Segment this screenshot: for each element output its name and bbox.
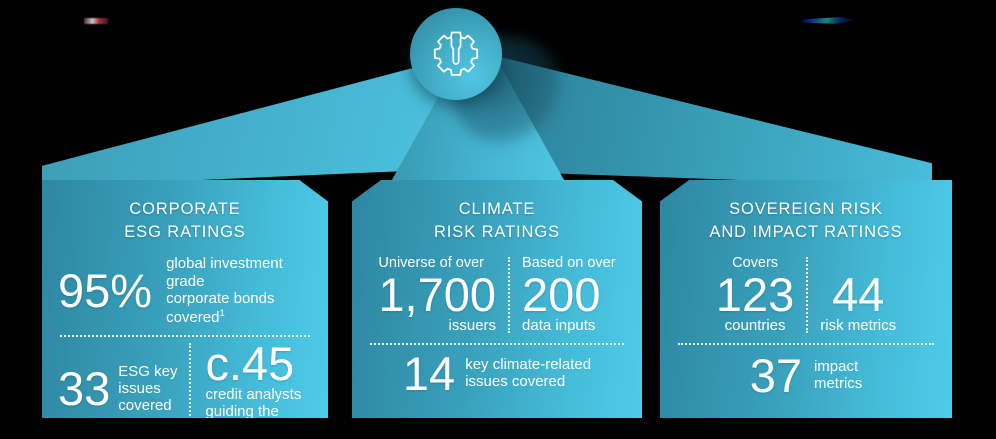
- panel-title-sovereign: SOVEREIGN RISK AND IMPACT RATINGS: [676, 198, 936, 245]
- stat-row-37: 37 impact metrics: [676, 349, 936, 398]
- stat-caption-line-2: metrics: [814, 375, 862, 392]
- panel-title-corporate: CORPORATE ESG RATINGS: [58, 198, 312, 245]
- stat-caption-line-2: issues: [118, 380, 177, 397]
- stat-value-33: 33: [58, 366, 110, 411]
- connector-left-corporate: [42, 55, 462, 187]
- stat-caption-line-1: key climate-related: [465, 356, 591, 373]
- stat-value-200: 200: [522, 272, 600, 317]
- stat-caption-line-1: global investment grade: [166, 255, 312, 290]
- stat-trail-1700: issuers: [449, 317, 497, 335]
- stat-row-33-and-45: 33 ESG key issues covered c.45 credit an…: [58, 341, 312, 437]
- stat-caption-line-2: guiding the model: [205, 403, 312, 437]
- stat-caption-14: key climate-related issues covered: [465, 356, 591, 390]
- panel-title-line-2: ESG RATINGS: [58, 221, 312, 244]
- panel-corporate-esg-ratings: CORPORATE ESG RATINGS 95% global investm…: [42, 180, 328, 418]
- stat-group-1700: Universe of over 1,700 issuers: [378, 255, 496, 335]
- stat-row-95-percent: 95% global investment grade corporate bo…: [58, 245, 312, 327]
- panel-climate-risk-ratings: CLIMATE RISK RATINGS Universe of over 1,…: [352, 180, 642, 418]
- stat-trail-200: data inputs: [522, 317, 595, 335]
- stat-value-95-percent: 95%: [58, 268, 152, 313]
- stat-trail-44: risk metrics: [820, 317, 896, 335]
- stat-caption-33: ESG key issues covered: [118, 363, 177, 414]
- stat-value-14: 14: [403, 351, 455, 396]
- divider-vertical-sovereign: [806, 257, 808, 333]
- divider-vertical-climate: [508, 257, 510, 333]
- top-left-image-artifact: [84, 18, 108, 24]
- panel-title-line-1: CORPORATE: [58, 198, 312, 221]
- divider-horizontal-sovereign: [678, 343, 934, 345]
- stat-value-37: 37: [750, 353, 802, 398]
- stat-value-123: 123: [716, 272, 794, 317]
- panel-title-line-2: AND IMPACT RATINGS: [676, 221, 936, 244]
- divider-horizontal-climate: [370, 343, 624, 345]
- stat-caption-line-1: impact: [814, 358, 862, 375]
- stat-caption-37: impact metrics: [814, 358, 862, 392]
- panel-title-line-1: SOVEREIGN RISK: [676, 198, 936, 221]
- gear-wrench-icon: [429, 27, 483, 81]
- stat-caption-line-1: ESG key: [118, 363, 177, 380]
- stat-group-123: Covers 123 countries: [716, 255, 794, 335]
- stat-group-200: Based on over 200 data inputs: [522, 255, 616, 335]
- stat-value-1700: 1,700: [378, 272, 496, 317]
- stat-value-c45: c.45: [205, 341, 312, 386]
- top-right-image-artifact: [800, 17, 856, 24]
- stat-row-14: 14 key climate-related issues covered: [368, 349, 626, 396]
- infographic-canvas: CORPORATE ESG RATINGS 95% global investm…: [0, 0, 996, 439]
- stat-caption-line-1: credit analysts: [205, 386, 312, 403]
- stat-group-45: c.45 credit analysts guiding the model: [203, 341, 312, 437]
- stat-group-33: 33 ESG key issues covered: [58, 341, 177, 437]
- panel-sovereign-risk-and-impact-ratings: SOVEREIGN RISK AND IMPACT RATINGS Covers…: [660, 180, 952, 418]
- stat-caption-c45: credit analysts guiding the model: [205, 386, 312, 437]
- stat-value-44: 44: [832, 272, 884, 317]
- stat-trail-123: countries: [725, 317, 786, 335]
- hub-circle: [410, 8, 502, 100]
- panel-title-line-1: CLIMATE: [368, 198, 626, 221]
- stat-caption-95-percent: global investment grade corporate bonds …: [166, 255, 312, 327]
- stat-caption-line-3: covered: [118, 397, 177, 414]
- panel-title-climate: CLIMATE RISK RATINGS: [368, 198, 626, 245]
- stat-caption-line-2: issues covered: [465, 373, 591, 390]
- panel-title-line-2: RISK RATINGS: [368, 221, 626, 244]
- stat-row-123-and-44: Covers 123 countries 44 risk metrics: [676, 245, 936, 335]
- stat-group-44: 44 risk metrics: [820, 255, 896, 335]
- divider-vertical-corporate: [189, 343, 191, 435]
- stat-row-1700-and-200: Universe of over 1,700 issuers Based on …: [368, 245, 626, 335]
- footnote-marker-1: 1: [219, 308, 224, 319]
